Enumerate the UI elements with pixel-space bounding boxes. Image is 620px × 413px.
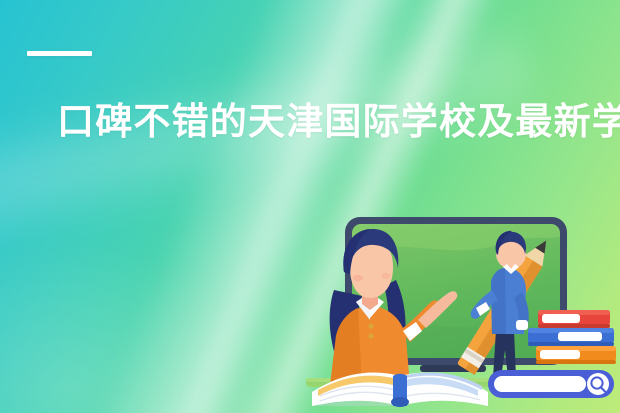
page-title: 口碑不错的天津国际学校及最新学费 (57, 96, 620, 148)
book-stack (528, 310, 616, 364)
search-input[interactable] (492, 374, 612, 400)
banner-stage: 口碑不错的天津国际学校及最新学费 (0, 0, 620, 413)
accent-dash (27, 51, 92, 56)
